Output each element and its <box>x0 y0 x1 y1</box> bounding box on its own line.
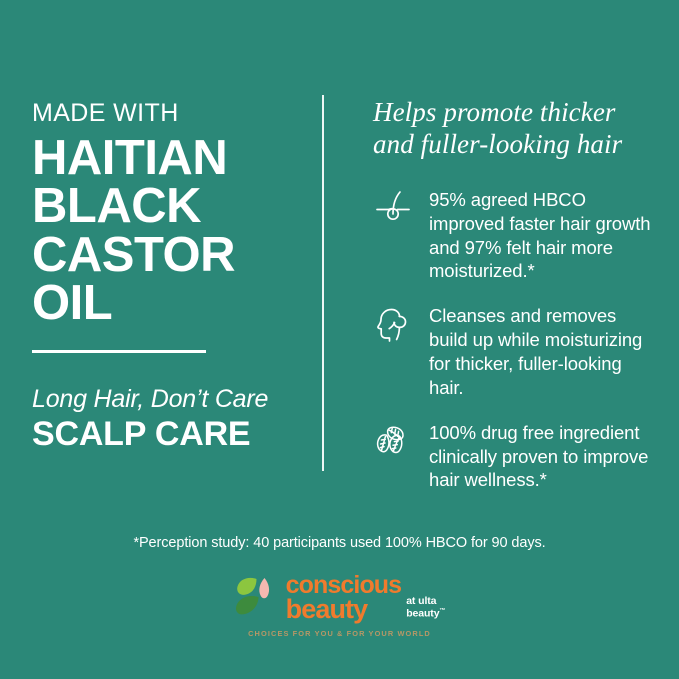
list-item-text: 95% agreed HBCO improved faster hair gro… <box>429 187 659 283</box>
hair-follicle-icon <box>373 189 413 231</box>
logo-partner-line-2: beauty <box>406 607 439 619</box>
logo-partner-ulta: at ulta beauty™ <box>406 596 445 619</box>
list-item: Cleanses and removes build up while mois… <box>373 303 659 399</box>
logo-wordmark: conscious beauty at ulta beauty™ <box>286 574 446 622</box>
headline-line-1: HAITIAN <box>32 134 300 183</box>
head-profile-hair-icon <box>373 305 413 347</box>
leaves-and-petal-icon <box>234 572 284 624</box>
trademark-symbol: ™ <box>439 608 445 614</box>
left-column: MADE WITH HAITIAN BLACK CASTOR OIL Long … <box>32 100 300 453</box>
footnote-text: *Perception study: 40 participants used … <box>0 535 679 551</box>
content-columns: MADE WITH HAITIAN BLACK CASTOR OIL Long … <box>0 0 679 510</box>
eyebrow-text: MADE WITH <box>32 100 300 128</box>
logo-row: conscious beauty at ulta beauty™ <box>234 572 446 624</box>
logo-brand-stack: conscious beauty <box>286 574 402 622</box>
list-item: 95% agreed HBCO improved faster hair gro… <box>373 187 659 283</box>
benefit-list: 95% agreed HBCO improved faster hair gro… <box>373 187 659 492</box>
logo-partner-line-1: at ulta <box>406 595 436 607</box>
conscious-beauty-logo: conscious beauty at ulta beauty™ CHOICES… <box>0 572 679 638</box>
list-item: 100% drug free ingredient clinically pro… <box>373 420 659 493</box>
tagline-italic: Long Hair, Don’t Care <box>32 386 300 414</box>
list-item-text: Cleanses and removes build up while mois… <box>429 303 659 399</box>
promo-heading: Helps promote thicker and fuller-looking… <box>373 96 659 161</box>
column-divider <box>322 95 324 471</box>
logo-line-beauty: beauty <box>286 597 402 622</box>
product-headline: HAITIAN BLACK CASTOR OIL <box>32 134 300 328</box>
tagline-bold: SCALP CARE <box>32 416 300 453</box>
headline-line-4: OIL <box>32 279 300 328</box>
list-item-text: 100% drug free ingredient clinically pro… <box>429 420 659 493</box>
headline-line-3: CASTOR <box>32 231 300 280</box>
headline-line-2: BLACK <box>32 182 300 231</box>
three-leaves-icon <box>373 422 413 464</box>
right-column: Helps promote thicker and fuller-looking… <box>373 96 659 492</box>
horizontal-rule <box>32 350 206 353</box>
logo-tagline: CHOICES FOR YOU & FOR YOUR WORLD <box>248 629 431 638</box>
